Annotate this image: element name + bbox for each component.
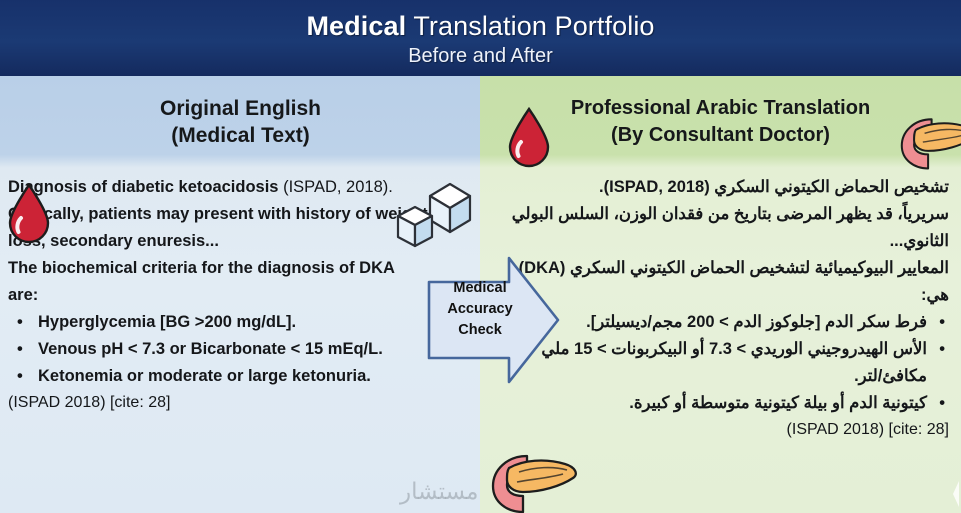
list-item-label: فرط سكر الدم [جلوكوز الدم > 200 مجم/ديسي… [586,313,927,331]
left-paragraph-1-citation: (ISPAD, 2018). [279,178,393,196]
left-paragraph-2: Clinically, patients may present with hi… [8,201,428,255]
right-panel-body: تشخيص الحماض الكيتوني السكري (ISPAD, 201… [494,174,949,443]
page-title-strong: Medical [306,11,406,41]
right-paragraph-2: سريرياً، قد يظهر المرضى بتاريخ من فقدان … [494,201,949,255]
list-item-label: كيتونية الدم أو بيلة كيتونية متوسطة أو ك… [629,394,927,412]
bullet-marker-icon: • [939,390,945,417]
pancreas-icon [893,112,961,179]
left-panel-header-line2: (Medical Text) [171,122,309,149]
page-title-rest: Translation Portfolio [406,11,654,41]
bullet-marker-icon: • [17,363,23,390]
left-panel-citation: (ISPAD 2018) [cite: 28] [8,390,428,416]
bullet-marker-icon: • [17,336,23,363]
list-item-label: Venous pH < 7.3 or Bicarbonate < 15 mEq/… [38,340,383,358]
page-subtitle: Before and After [408,44,553,68]
list-item-label: الأس الهيدروجيني الوريدي > 7.3 أو البيكر… [541,340,927,385]
right-panel-header-line1: Professional Arabic Translation [571,95,870,122]
left-panel-body: Diagnosis of diabetic ketoacidosis (ISPA… [8,174,428,416]
watermark-text: مستشار [400,478,478,505]
list-item-label: Ketonemia or moderate or large ketonuria… [38,367,371,385]
left-paragraph-3: The biochemical criteria for the diagnos… [8,255,428,309]
pancreas-icon [483,450,581,513]
list-item: •Hyperglycemia [BG >200 mg/dL]. [8,309,428,336]
arrow-label-line2: Accuracy [435,299,525,320]
bullet-marker-icon: • [939,336,945,363]
left-panel-original-english: Original English (Medical Text) Diagnosi… [0,76,481,513]
left-panel-header-line1: Original English [160,95,321,122]
right-panel-header-line2: (By Consultant Doctor) [611,122,830,149]
right-paragraph-1: تشخيص الحماض الكيتوني السكري (ISPAD, 201… [494,174,949,201]
sparkle-icon [943,481,959,507]
blood-drop-icon [505,106,553,175]
list-item: •فرط سكر الدم [جلوكوز الدم > 200 مجم/ديس… [494,309,949,336]
arrow-label-line1: Medical [435,278,525,299]
bullet-marker-icon: • [17,309,23,336]
right-paragraph-3: المعايير البيوكيميائية لتشخيص الحماض الك… [494,255,949,309]
slide-canvas: Medical Translation Portfolio Before and… [0,0,961,513]
list-item: •Venous pH < 7.3 or Bicarbonate < 15 mEq… [8,336,428,363]
arrow-label-line3: Check [435,320,525,341]
list-item: •Ketonemia or moderate or large ketonuri… [8,363,428,390]
left-paragraph-1: Diagnosis of diabetic ketoacidosis (ISPA… [8,174,428,201]
left-panel-header: Original English (Medical Text) [0,76,481,168]
sugar-cubes-icon [394,180,472,257]
bullet-marker-icon: • [939,309,945,336]
left-bullet-list: •Hyperglycemia [BG >200 mg/dL]. •Venous … [8,309,428,390]
arrow-label: Medical Accuracy Check [435,278,525,341]
list-item: •كيتونية الدم أو بيلة كيتونية متوسطة أو … [494,390,949,417]
title-bar: Medical Translation Portfolio Before and… [0,0,961,76]
right-bullet-list: •فرط سكر الدم [جلوكوز الدم > 200 مجم/ديس… [494,309,949,417]
list-item: •الأس الهيدروجيني الوريدي > 7.3 أو البيك… [494,336,949,390]
medical-accuracy-check-arrow: Medical Accuracy Check [427,256,560,384]
page-title: Medical Translation Portfolio [306,11,654,41]
right-panel-citation: (ISPAD 2018) [cite: 28] [494,417,949,443]
blood-drop-icon [5,182,53,251]
list-item-label: Hyperglycemia [BG >200 mg/dL]. [38,313,296,331]
